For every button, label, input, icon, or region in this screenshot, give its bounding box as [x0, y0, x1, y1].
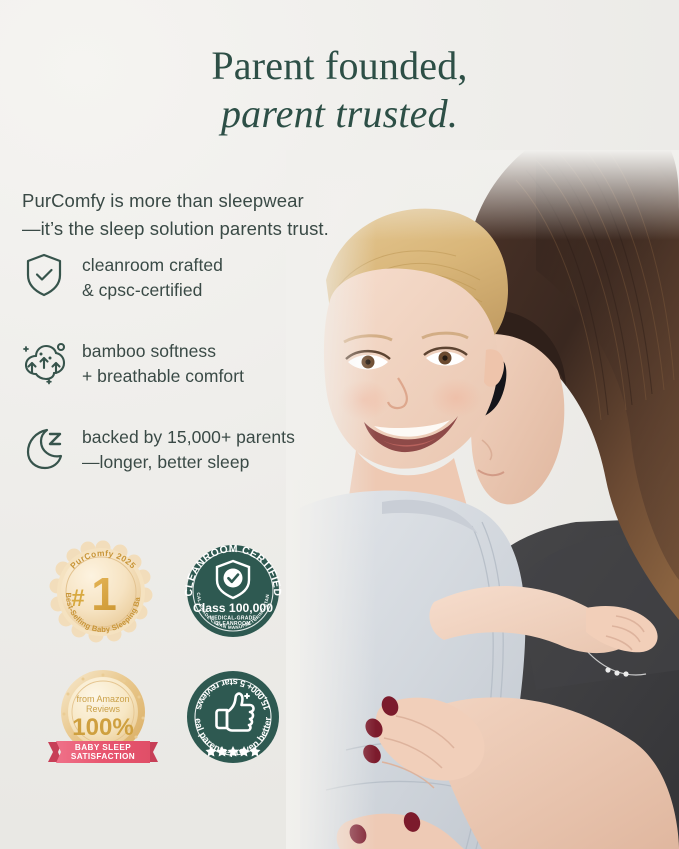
- feature-item-bamboo: bamboo softness + breathable comfort: [20, 336, 350, 390]
- feature-line-2: & cpsc-certified: [82, 278, 223, 303]
- feature-item-sleep: backed by 15,000+ parents —longer, bette…: [20, 422, 350, 476]
- cleanroom-certified-badge: Class 100,000 MEDICAL-GRADE CLEANROOM CL…: [174, 536, 292, 646]
- best-selling-badge: 1 # PurComfy 2025 Best-Selling Baby Slee…: [44, 536, 162, 646]
- badge1-center: 1: [91, 568, 117, 620]
- headline-line-1: Parent founded,: [0, 43, 679, 89]
- parent-reviews-badge: 15,000+ 5 star reviews real parents-prov…: [174, 662, 292, 772]
- lede-line-1: PurComfy is more than sleepwear: [22, 187, 422, 215]
- shield-check-icon: [20, 250, 68, 300]
- bamboo-breathable-icon: [20, 336, 68, 386]
- badge3-center: 100%: [72, 714, 133, 741]
- feature-line-2: + breathable comfort: [82, 364, 244, 389]
- moon-sleep-icon: [20, 422, 68, 472]
- lede-paragraph: PurComfy is more than sleepwear —it’s th…: [22, 187, 422, 243]
- feature-text-sleep: backed by 15,000+ parents —longer, bette…: [82, 422, 295, 476]
- badge3-ribbon1: BABY SLEEP: [75, 743, 131, 752]
- feature-text-bamboo: bamboo softness + breathable comfort: [82, 336, 244, 390]
- headline-line-2: parent trusted.: [0, 91, 679, 137]
- trust-badge-grid: 1 # PurComfy 2025 Best-Selling Baby Slee…: [44, 536, 304, 772]
- badge3-top2: Reviews: [86, 704, 121, 714]
- feature-line-1: bamboo softness: [82, 339, 244, 364]
- feature-line-2: —longer, better sleep: [82, 450, 295, 475]
- promo-page: Parent founded, parent trusted. PurComfy…: [0, 0, 679, 849]
- feature-list: cleanroom crafted & cpsc-certified: [20, 250, 350, 507]
- feature-line-1: cleanroom crafted: [82, 253, 223, 278]
- amazon-satisfaction-badge: from Amazon Reviews 100% BABY SLEEP SATI…: [44, 662, 162, 772]
- badge3-ribbon2: SATISFACTION: [71, 752, 135, 761]
- badge3-top1: from Amazon: [76, 694, 129, 704]
- feature-item-cleanroom: cleanroom crafted & cpsc-certified: [20, 250, 350, 304]
- feature-text-cleanroom: cleanroom crafted & cpsc-certified: [82, 250, 223, 304]
- lede-line-2: —it’s the sleep solution parents trust.: [22, 215, 422, 243]
- feature-line-1: backed by 15,000+ parents: [82, 425, 295, 450]
- page-title: Parent founded, parent trusted.: [0, 43, 679, 136]
